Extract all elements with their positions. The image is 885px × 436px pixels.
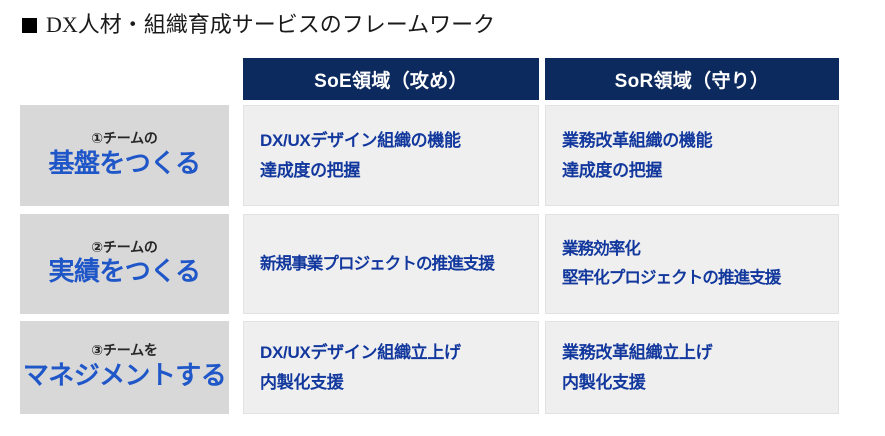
cell-row2-soe: 新規事業プロジェクトの推進支援 — [243, 214, 539, 314]
row-label-1-main: 基盤をつくる — [49, 148, 201, 179]
cell-row3-soe-line2: 内製化支援 — [260, 368, 530, 398]
row-label-3-sub: ③チームを — [91, 342, 157, 360]
cell-row3-sor-line2: 内製化支援 — [562, 368, 830, 398]
cell-row3-soe: DX/UXデザイン組織立上げ 内製化支援 — [243, 321, 539, 414]
row-label-1: ①チームの 基盤をつくる — [20, 105, 229, 206]
row-label-3: ③チームを マネジメントする — [20, 321, 229, 414]
cell-row1-soe: DX/UXデザイン組織の機能 達成度の把握 — [243, 105, 539, 206]
cell-row1-soe-line2: 達成度の把握 — [260, 156, 530, 186]
column-header-sor-label: SoR領域（守り） — [615, 66, 770, 93]
cell-row3-sor-line1: 業務改革組織立上げ — [562, 338, 830, 368]
cell-row1-soe-line1: DX/UXデザイン組織の機能 — [260, 126, 530, 156]
row-label-2-main: 実績をつくる — [49, 256, 201, 287]
cell-row1-sor-line1: 業務改革組織の機能 — [562, 126, 830, 156]
cell-row3-soe-line1: DX/UXデザイン組織立上げ — [260, 338, 530, 368]
row-label-2-sub: ②チームの — [91, 239, 157, 257]
row-label-1-sub: ①チームの — [91, 130, 157, 148]
cell-row3-sor: 業務改革組織立上げ 内製化支援 — [545, 321, 839, 414]
cell-row2-soe-line1: 新規事業プロジェクトの推進支援 — [260, 250, 530, 279]
column-header-sor: SoR領域（守り） — [545, 58, 839, 100]
framework-matrix: SoE領域（攻め） SoR領域（守り） ①チームの 基盤をつくる ②チームの 実… — [0, 0, 885, 436]
column-header-soe: SoE領域（攻め） — [243, 58, 539, 100]
cell-row1-sor: 業務改革組織の機能 達成度の把握 — [545, 105, 839, 206]
cell-row1-sor-line2: 達成度の把握 — [562, 156, 830, 186]
cell-row2-sor: 業務効率化 堅牢化プロジェクトの推進支援 — [545, 214, 839, 314]
cell-row2-sor-line2: 堅牢化プロジェクトの推進支援 — [562, 264, 830, 293]
row-label-3-main: マネジメントする — [23, 360, 226, 391]
column-header-soe-label: SoE領域（攻め） — [314, 66, 468, 93]
cell-row2-sor-line1: 業務効率化 — [562, 235, 830, 264]
row-label-2: ②チームの 実績をつくる — [20, 214, 229, 314]
